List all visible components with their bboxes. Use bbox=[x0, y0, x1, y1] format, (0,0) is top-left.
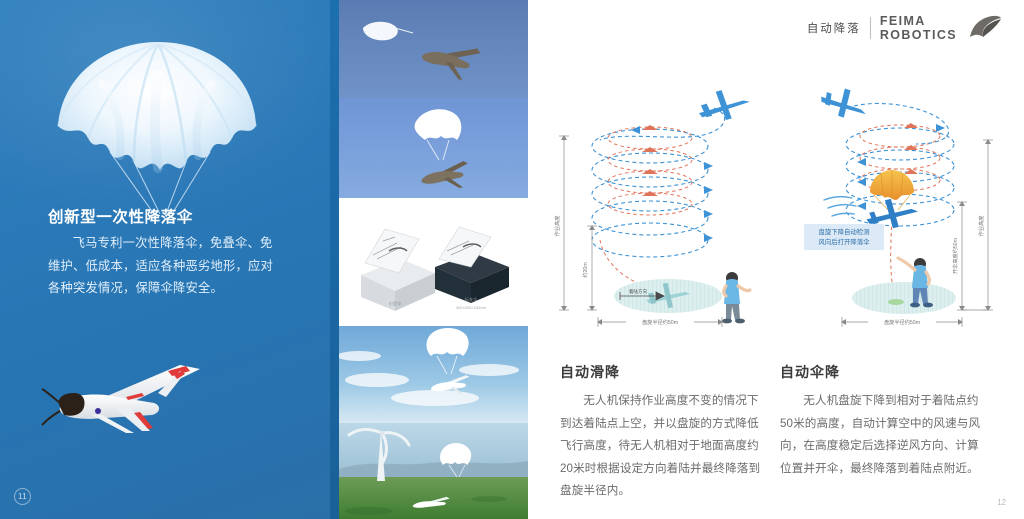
brand-line-2: ROBOTICS bbox=[880, 28, 957, 42]
parachute-illustration bbox=[42, 34, 272, 214]
label-heading-direction: 着陆方向 bbox=[629, 288, 648, 295]
right-content-area: 自动降落 FEIMA ROBOTICS bbox=[528, 0, 1024, 519]
photo-parachute-descent-clouds bbox=[339, 326, 528, 423]
label-low-height: 约20m bbox=[581, 262, 589, 277]
label-orbit-radius: 盘旋半径约50m bbox=[642, 318, 678, 326]
diagram-auto-parachute-descent: 盘旋下降自动检测 风向后打开降落伞 bbox=[776, 74, 1024, 336]
feima-wing-logo-icon bbox=[966, 15, 1002, 41]
brand-header: 自动降落 FEIMA ROBOTICS bbox=[807, 14, 1002, 42]
caption-body-2: 无人机盘旋下降到相对于着陆点约50米的高度，自动计算空中的风速与风向，在高度稳定… bbox=[780, 390, 988, 480]
caption-title-2: 自动伞降 bbox=[780, 362, 988, 382]
diagram-auto-glide-descent: 着陆方向 bbox=[528, 74, 776, 336]
brand-divider bbox=[870, 17, 871, 39]
header-title: 自动降落 bbox=[807, 20, 861, 36]
callout-line-2: 风向后打开降落伞 bbox=[818, 237, 870, 246]
panel-edge-strip bbox=[330, 0, 339, 519]
photo-parachute-open-sky-2 bbox=[339, 98, 528, 198]
left-panel-body-text: 飞马专利一次性降落伞，免叠伞、免维护、低成本，适应各种恶劣地形，应对各种突发情况… bbox=[48, 232, 274, 300]
caption-auto-parachute: 自动伞降 无人机盘旋下降到相对于着陆点约50米的高度，自动计算空中的风速与风向，… bbox=[780, 362, 988, 480]
label-orbit-radius-right: 盘旋半径约50m bbox=[884, 318, 920, 326]
product-label-left: 小型伞 bbox=[389, 300, 402, 307]
label-work-height: 作业高度 bbox=[553, 216, 561, 237]
photo-landing-field-wind-turbine bbox=[339, 423, 528, 519]
brand-wordmark: FEIMA ROBOTICS bbox=[880, 14, 957, 42]
label-open-height: 开伞高度约50m bbox=[951, 238, 959, 274]
diagram-row: 着陆方向 bbox=[528, 74, 1024, 336]
label-work-height-right: 作业高度 bbox=[977, 216, 985, 237]
photo-parachute-deploy-sky-1 bbox=[339, 0, 528, 98]
caption-title-1: 自动滑降 bbox=[560, 362, 768, 382]
left-blue-panel: 创新型一次性降落伞 飞马专利一次性降落伞，免叠伞、免维护、低成本，适应各种恶劣地… bbox=[0, 0, 338, 519]
caption-body-1: 无人机保持作业高度不变的情况下到达着陆点上空，并以盘旋的方式降低飞行高度，待无人… bbox=[560, 390, 768, 503]
product-label-right: 标准伞 bbox=[465, 296, 478, 303]
product-spec-right: 300×200×120mm bbox=[456, 306, 486, 310]
uav-illustration bbox=[30, 345, 220, 455]
photo-parachute-box-products: 小型伞 标准伞 300×200×120mm bbox=[339, 198, 528, 326]
page-title: 创新型一次性降落伞 bbox=[48, 205, 288, 227]
photo-column: 小型伞 标准伞 300×200×120mm bbox=[339, 0, 528, 519]
slide-page: 创新型一次性降落伞 飞马专利一次性降落伞，免叠伞、免维护、低成本，适应各种恶劣地… bbox=[0, 0, 1024, 519]
brand-line-1: FEIMA bbox=[880, 14, 926, 28]
callout-line-1: 盘旋下降自动检测 bbox=[818, 227, 869, 236]
page-number-left: 11 bbox=[14, 488, 31, 505]
caption-auto-glide: 自动滑降 无人机保持作业高度不变的情况下到达着陆点上空，并以盘旋的方式降低飞行高… bbox=[560, 362, 768, 503]
page-number-right: 12 bbox=[997, 498, 1006, 507]
